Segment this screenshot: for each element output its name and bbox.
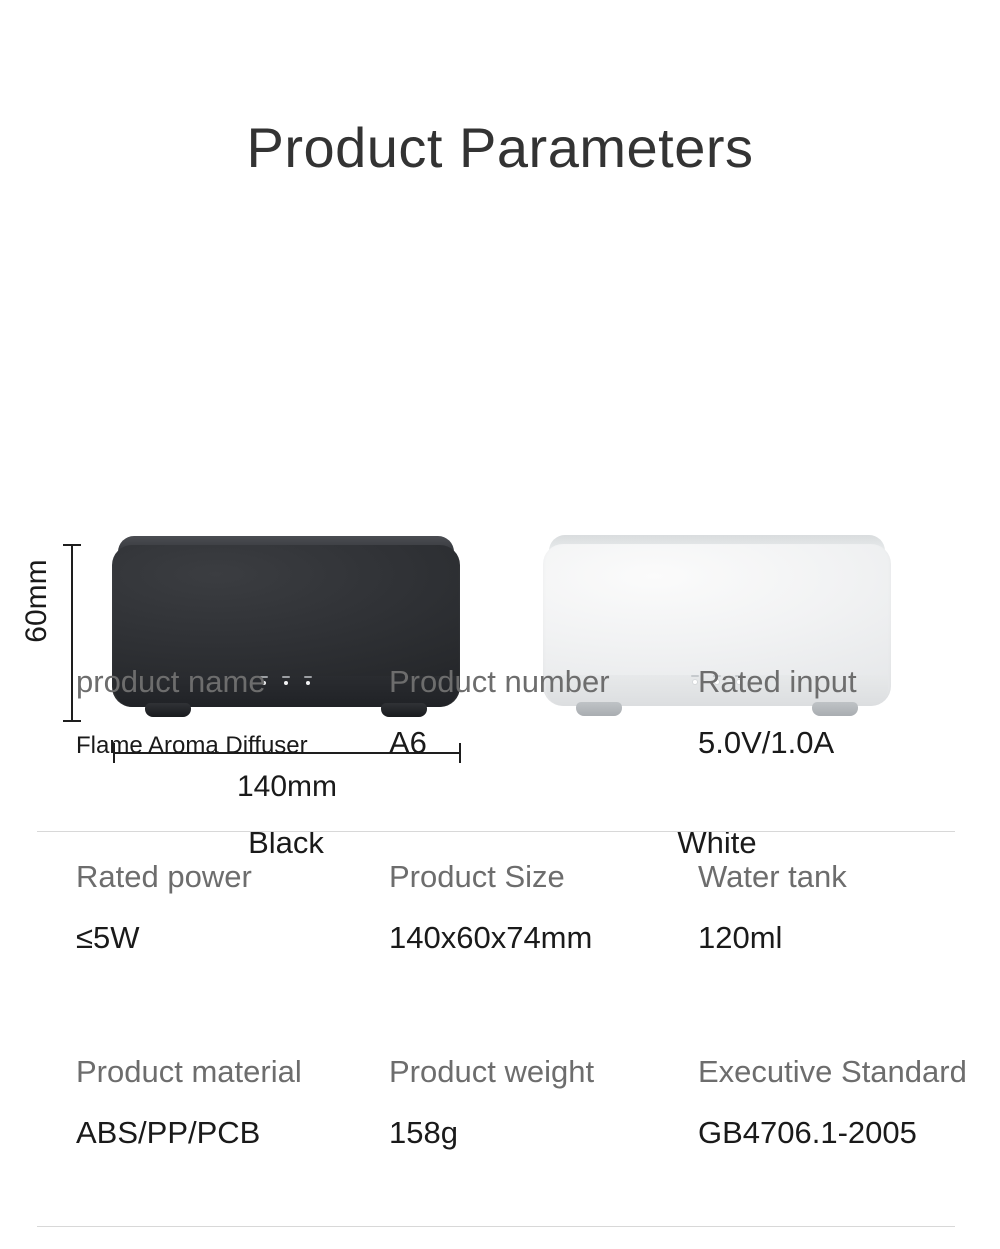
spec-row: Rated power ≤5W Product Size 140x60x74mm… [0, 855, 1000, 1050]
spec-value: Flame Aroma Diffuser [76, 726, 376, 766]
spec-value: 5.0V/1.0A [698, 723, 988, 763]
spec-cell-executive-standard: Executive Standard GB4706.1-2005 [698, 1050, 988, 1153]
spec-label: Product number [389, 660, 684, 704]
spec-cell-product-weight: Product weight 158g [389, 1050, 684, 1153]
spec-cell-product-name: product name Flame Aroma Diffuser [76, 660, 376, 766]
spec-label: Product Size [389, 855, 684, 899]
spec-cell-product-size: Product Size 140x60x74mm [389, 855, 684, 958]
spec-label: Rated input [698, 660, 988, 704]
spec-label: Rated power [76, 855, 376, 899]
spec-cell-product-number: Product number A6 [389, 660, 684, 763]
product-parameters-page: Product Parameters 60mm [0, 0, 1000, 1249]
spec-label: Product material [76, 1050, 376, 1094]
spec-cell-rated-input: Rated input 5.0V/1.0A [698, 660, 988, 763]
spec-value: GB4706.1-2005 [698, 1113, 988, 1153]
row-divider [37, 831, 955, 832]
spec-cell-water-tank: Water tank 120ml [698, 855, 988, 958]
spec-value: A6 [389, 723, 684, 763]
spec-value: 140x60x74mm [389, 918, 684, 958]
spec-value: 120ml [698, 918, 988, 958]
spec-value: ≤5W [76, 918, 376, 958]
spec-label: Product weight [389, 1050, 684, 1094]
spec-label: Water tank [698, 855, 988, 899]
spec-value: ABS/PP/PCB [76, 1113, 376, 1153]
spec-label: product name [76, 660, 376, 704]
product-showcase: 60mm [0, 255, 1000, 625]
spec-cell-product-material: Product material ABS/PP/PCB [76, 1050, 376, 1153]
height-dimension-label: 60mm [21, 546, 53, 656]
specifications-table: product name Flame Aroma Diffuser Produc… [0, 660, 1000, 1245]
page-title: Product Parameters [0, 113, 1000, 183]
spec-value: 158g [389, 1113, 684, 1153]
spec-row: Product material ABS/PP/PCB Product weig… [0, 1050, 1000, 1245]
spec-label: Executive Standard [698, 1050, 988, 1094]
spec-row: product name Flame Aroma Diffuser Produc… [0, 660, 1000, 855]
spec-cell-rated-power: Rated power ≤5W [76, 855, 376, 958]
